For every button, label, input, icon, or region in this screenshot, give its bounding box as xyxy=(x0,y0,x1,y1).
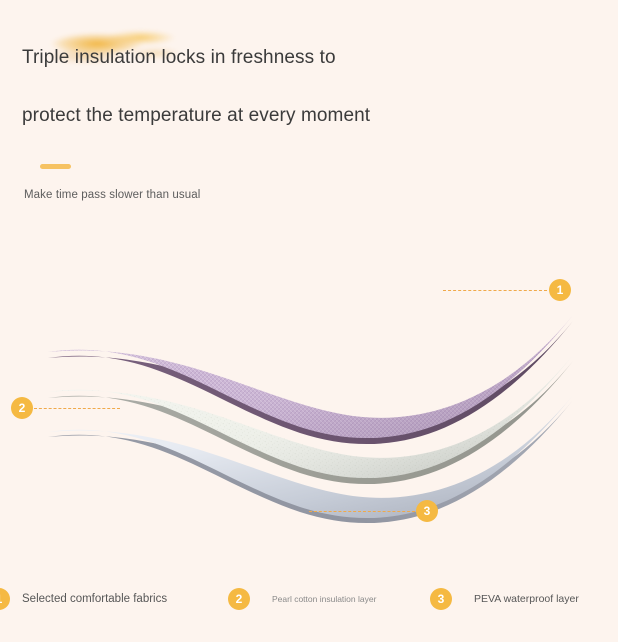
legend-label-2: Pearl cotton insulation layer xyxy=(272,594,376,604)
subtitle: Make time pass slower than usual xyxy=(24,189,200,201)
callout-3-badge[interactable]: 3 xyxy=(416,500,438,522)
legend-item-1[interactable]: 1 Selected comfortable fabrics xyxy=(0,588,167,610)
callout-2-leader-line xyxy=(34,408,120,409)
callout-3-leader-line xyxy=(309,511,415,512)
legend-badge-1: 1 xyxy=(0,588,10,610)
callout-1-badge[interactable]: 1 xyxy=(549,279,571,301)
headline-line-1: Triple insulation locks in freshness to xyxy=(22,47,336,69)
legend-item-3[interactable]: 3 PEVA waterproof layer xyxy=(430,588,579,610)
callout-2-badge[interactable]: 2 xyxy=(11,397,33,419)
accent-bar xyxy=(40,164,71,169)
callout-1-leader-line xyxy=(443,290,547,291)
legend-label-1: Selected comfortable fabrics xyxy=(22,593,167,605)
legend-label-3: PEVA waterproof layer xyxy=(474,593,579,605)
legend-badge-3: 3 xyxy=(430,588,452,610)
legend: 1 Selected comfortable fabrics 2 Pearl c… xyxy=(0,588,618,628)
headline-line-2: protect the temperature at every moment xyxy=(22,105,370,127)
legend-item-2[interactable]: 2 Pearl cotton insulation layer xyxy=(228,588,376,610)
product-feature-page: Triple insulation locks in freshness to … xyxy=(0,0,618,642)
diagram-layer-outer-fabric xyxy=(48,315,573,444)
legend-badge-2: 2 xyxy=(228,588,250,610)
